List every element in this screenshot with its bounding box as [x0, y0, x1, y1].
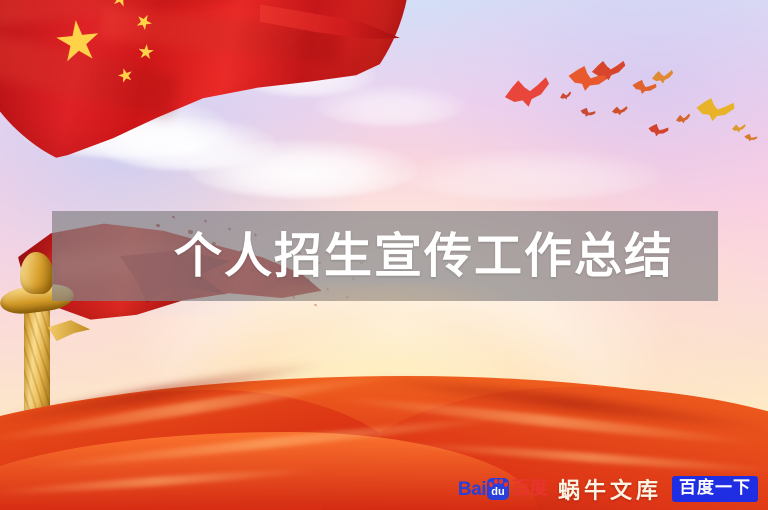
chinese-flag-graphic: [0, 0, 410, 176]
baidu-wordmark-bai: Bai: [458, 480, 486, 499]
baidu-search-button[interactable]: 百度一下: [672, 476, 758, 502]
column-cap: [20, 252, 54, 294]
site-name-label: 蜗牛文库: [558, 473, 662, 505]
footer-branding: Bai du 百度 蜗牛文库 百度一下: [458, 474, 758, 504]
cloud-icon: [400, 150, 660, 200]
baidu-wordmark-du: du: [491, 487, 504, 500]
paw-toe: [503, 481, 508, 487]
poster-image: 个人招生宣传工作总结 Bai du 百: [0, 0, 768, 510]
paw-toes: [489, 479, 507, 487]
baidu-wordmark-chinese: 百度: [512, 480, 548, 498]
paw-toe: [488, 481, 493, 487]
paw-toe: [499, 479, 503, 484]
paw-toe: [494, 479, 498, 484]
baidu-paw-icon: du: [487, 478, 509, 500]
page-title: 个人招生宣传工作总结: [174, 232, 674, 280]
baidu-logo[interactable]: Bai du 百度: [458, 478, 548, 500]
